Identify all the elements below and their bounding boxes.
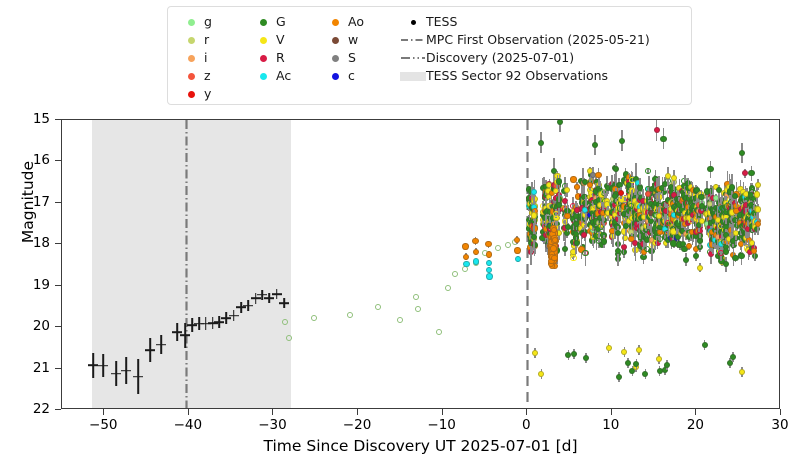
x-tick-label: 0 xyxy=(496,417,556,433)
data-point xyxy=(697,238,703,244)
data-point xyxy=(615,248,621,254)
data-point xyxy=(538,140,544,146)
data-point xyxy=(571,351,577,357)
legend-marker xyxy=(178,91,204,98)
data-point xyxy=(755,182,761,188)
shaded-span-swatch-icon xyxy=(400,72,426,81)
legend-marker-icon xyxy=(188,37,195,44)
data-point xyxy=(514,247,520,253)
legend-marker xyxy=(178,37,204,44)
legend-marker-icon xyxy=(188,91,195,98)
data-point xyxy=(625,360,631,366)
legend-item-label: c xyxy=(348,67,355,85)
legend-item[interactable]: c xyxy=(322,67,400,85)
tess-data-point xyxy=(133,359,143,394)
legend-marker-icon xyxy=(260,73,267,80)
legend-marker xyxy=(400,20,426,25)
legend-marker xyxy=(322,73,348,80)
data-point xyxy=(723,261,729,267)
tess-data-point xyxy=(121,357,131,384)
data-point xyxy=(473,249,479,255)
data-point xyxy=(531,189,537,195)
legend-item-label: r xyxy=(204,31,209,49)
legend-item-label: Ao xyxy=(348,13,364,31)
data-point xyxy=(562,246,568,252)
data-point xyxy=(616,374,622,380)
legend-marker-icon xyxy=(260,19,267,26)
legend-marker-icon xyxy=(411,20,416,25)
data-point xyxy=(636,347,642,353)
legend-item-label: Discovery (2025-07-01) xyxy=(426,49,574,67)
y-tick-label: 21 xyxy=(0,360,50,376)
data-point xyxy=(683,257,689,263)
x-tick-label: −10 xyxy=(412,417,472,433)
y-axis-label: Magnitude xyxy=(19,82,37,322)
plot-area xyxy=(61,119,780,409)
legend-item-label: MPC First Observation (2025-05-21) xyxy=(426,31,650,49)
data-point xyxy=(485,241,491,247)
y-tick xyxy=(55,285,61,286)
legend-marker-icon xyxy=(332,37,339,44)
data-point xyxy=(538,371,544,377)
x-tick-label: −50 xyxy=(73,417,133,433)
legend-marker xyxy=(400,72,426,81)
x-tick xyxy=(272,409,273,415)
tess-data-point xyxy=(98,354,108,377)
legend-item[interactable]: z xyxy=(178,67,250,85)
data-point xyxy=(463,261,469,267)
data-point xyxy=(574,240,580,246)
legend-item-label: S xyxy=(348,49,356,67)
data-point xyxy=(738,253,744,259)
data-point xyxy=(697,265,703,271)
x-axis-label: Time Since Discovery UT 2025-07-01 [d] xyxy=(61,437,780,455)
y-tick-label: 22 xyxy=(0,401,50,417)
legend-item-label: TESS Sector 92 Observations xyxy=(426,67,608,85)
tess-data-point xyxy=(88,353,98,378)
y-tick xyxy=(55,202,61,203)
data-point xyxy=(397,317,403,323)
data-point xyxy=(581,232,587,238)
data-point xyxy=(570,255,576,261)
data-point xyxy=(445,285,451,291)
data-point xyxy=(505,242,511,248)
legend-item-label: TESS xyxy=(426,13,457,31)
legend-marker xyxy=(322,19,348,26)
legend-marker xyxy=(322,37,348,44)
data-point xyxy=(550,245,556,251)
legend-item[interactable]: y xyxy=(178,85,250,103)
data-point xyxy=(742,170,748,176)
x-tick xyxy=(442,409,443,415)
legend-item-label: V xyxy=(276,31,285,49)
data-point xyxy=(564,187,570,193)
tess-data-point xyxy=(156,335,166,355)
data-point xyxy=(557,119,563,125)
dashed-line-icon xyxy=(400,53,426,63)
data-point xyxy=(645,168,651,174)
data-point xyxy=(413,294,419,300)
y-tick xyxy=(55,243,61,244)
x-tick-label: −20 xyxy=(327,417,387,433)
y-tick xyxy=(55,409,61,410)
legend-marker-icon xyxy=(260,37,267,44)
data-point xyxy=(592,142,598,148)
data-point xyxy=(629,368,635,374)
legend-item-label: y xyxy=(204,85,211,103)
data-point xyxy=(473,258,479,264)
legend-marker-icon xyxy=(332,19,339,26)
legend-item[interactable]: Ac xyxy=(250,67,322,85)
data-point xyxy=(286,335,292,341)
legend-marker-icon xyxy=(188,73,195,80)
data-point xyxy=(486,251,492,257)
data-point xyxy=(656,356,662,362)
x-tick xyxy=(188,409,189,415)
data-point xyxy=(415,306,421,312)
data-point xyxy=(375,304,381,310)
data-point xyxy=(730,354,736,360)
data-point xyxy=(664,362,670,368)
chart-legend: grizyGVRAcAowScTESSMPC First Observation… xyxy=(167,6,692,105)
legend-item[interactable]: Discovery (2025-07-01) xyxy=(400,49,650,67)
legend-item[interactable]: G xyxy=(250,13,322,31)
data-point xyxy=(463,254,469,260)
data-point xyxy=(462,243,468,249)
annotation-column: TESSMPC First Observation (2025-05-21)Di… xyxy=(400,13,650,104)
legend-marker xyxy=(400,53,426,63)
dashdot-line-icon xyxy=(400,35,426,45)
tess-data-point xyxy=(279,298,289,309)
data-point xyxy=(452,271,458,277)
y-tick xyxy=(55,326,61,327)
data-point xyxy=(531,234,537,240)
legend-item[interactable]: r xyxy=(178,31,250,49)
data-point xyxy=(660,136,666,142)
legend-item[interactable]: i xyxy=(178,49,250,67)
data-point xyxy=(755,221,761,227)
data-point xyxy=(621,349,627,355)
data-point xyxy=(707,166,713,172)
data-point xyxy=(532,350,538,356)
data-point xyxy=(671,175,677,181)
legend-item-label: Ac xyxy=(276,67,291,85)
data-point xyxy=(654,127,660,133)
legend-item[interactable]: V xyxy=(250,31,322,49)
x-tick-label: 30 xyxy=(750,417,800,433)
legend-marker xyxy=(250,37,276,44)
data-point xyxy=(311,315,317,321)
data-point xyxy=(619,138,625,144)
data-point xyxy=(551,255,557,261)
legend-marker xyxy=(322,55,348,62)
band-column-2: GVRAc xyxy=(250,13,322,104)
legend-item-label: R xyxy=(276,49,285,67)
y-tick xyxy=(55,119,61,120)
legend-item-label: w xyxy=(348,31,358,49)
x-tick-label: 20 xyxy=(665,417,725,433)
legend-item[interactable]: S xyxy=(322,49,400,67)
y-tick xyxy=(55,160,61,161)
data-point xyxy=(601,238,607,244)
band-column-1: grizy xyxy=(178,13,250,104)
data-point xyxy=(515,256,521,262)
y-tick xyxy=(55,368,61,369)
legend-item[interactable]: MPC First Observation (2025-05-21) xyxy=(400,31,650,49)
data-point xyxy=(583,355,589,361)
x-tick xyxy=(695,409,696,415)
data-point xyxy=(606,345,612,351)
legend-marker xyxy=(250,19,276,26)
data-point xyxy=(582,250,588,256)
legend-item[interactable]: TESS Sector 92 Observations xyxy=(400,67,650,85)
legend-marker xyxy=(178,19,204,26)
data-point xyxy=(495,245,501,251)
x-tick xyxy=(780,409,781,415)
data-point xyxy=(739,369,745,375)
legend-marker xyxy=(178,73,204,80)
data-point xyxy=(739,150,745,156)
data-point xyxy=(702,342,708,348)
legend-marker xyxy=(250,55,276,62)
legend-marker-icon xyxy=(260,55,267,62)
data-point xyxy=(748,170,754,176)
legend-marker-icon xyxy=(188,19,195,26)
band-column-3: AowSc xyxy=(322,13,400,104)
figure-canvas: grizyGVRAcAowScTESSMPC First Observation… xyxy=(0,0,800,466)
legend-marker xyxy=(178,55,204,62)
x-tick-label: −30 xyxy=(242,417,302,433)
data-point xyxy=(472,238,478,244)
data-point xyxy=(693,253,699,259)
data-point xyxy=(729,184,735,190)
tess-data-point xyxy=(111,361,121,386)
legend-marker-icon xyxy=(188,55,195,62)
legend-marker-icon xyxy=(332,73,339,80)
legend-item-label: z xyxy=(204,67,211,85)
x-tick xyxy=(357,409,358,415)
data-point xyxy=(514,237,520,243)
legend-item[interactable]: TESS xyxy=(400,13,650,31)
data-point xyxy=(436,329,442,335)
legend-item[interactable]: w xyxy=(322,31,400,49)
x-tick xyxy=(611,409,612,415)
data-point xyxy=(574,184,580,190)
data-point xyxy=(754,191,760,197)
legend-item-label: G xyxy=(276,13,286,31)
x-tick-label: 10 xyxy=(581,417,641,433)
x-tick-label: −40 xyxy=(158,417,218,433)
x-tick xyxy=(526,409,527,415)
legend-item[interactable]: g xyxy=(178,13,250,31)
legend-marker xyxy=(400,35,426,45)
data-point xyxy=(613,166,619,172)
data-point xyxy=(347,312,353,318)
legend-marker-icon xyxy=(332,55,339,62)
legend-marker xyxy=(250,73,276,80)
data-point xyxy=(486,273,492,279)
x-tick xyxy=(103,409,104,415)
data-point xyxy=(595,172,601,178)
data-point xyxy=(486,260,492,266)
legend-item[interactable]: Ao xyxy=(322,13,400,31)
legend-item-label: g xyxy=(204,13,212,31)
data-point xyxy=(486,267,492,273)
legend-item-label: i xyxy=(204,49,207,67)
legend-item[interactable]: R xyxy=(250,49,322,67)
data-point xyxy=(531,212,537,218)
tess-data-point xyxy=(145,338,155,361)
data-point xyxy=(642,371,648,377)
